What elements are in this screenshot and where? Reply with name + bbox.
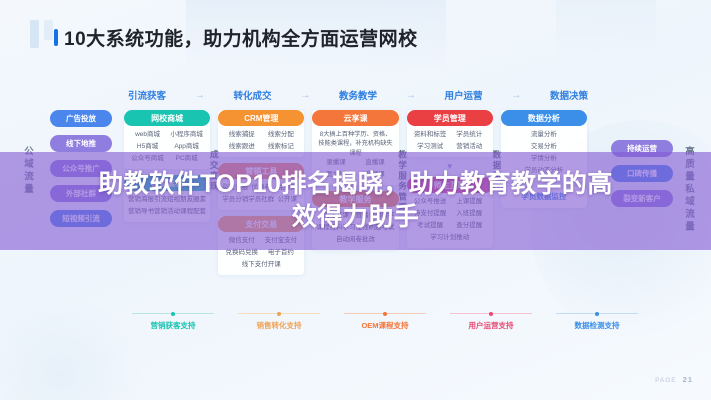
card-cell: 资料和标签 <box>411 130 450 140</box>
footer-item: 用户运营支持 <box>438 313 544 331</box>
card-cell: 流量分析 <box>505 130 583 140</box>
footer-divider <box>556 313 639 314</box>
card-body: 线索捕捉 线索分配 线索跟进 线索标记 <box>218 130 304 152</box>
support-footer: 营销获客支持 销售转化支持 OEM课程支持 用户运营支持 数据检测支持 <box>120 313 650 331</box>
page-number: PAGE21 <box>655 375 693 384</box>
flow-step-4: 用户运营 <box>445 88 483 102</box>
process-flow: 引流获客 → 转化成交 → 教务教学 → 用户运营 → 数据决策 <box>128 86 588 104</box>
flow-step-3: 教务教学 <box>339 88 377 102</box>
flow-arrow-icon: → <box>166 90 233 101</box>
footer-item: OEM课程支持 <box>332 313 438 331</box>
card-cell: 营销活动 <box>450 142 489 152</box>
rail-chip[interactable]: 线下地推 <box>50 135 112 152</box>
flow-arrow-icon: → <box>483 90 550 101</box>
footer-label: 用户运营支持 <box>438 320 544 331</box>
footer-divider <box>450 313 533 314</box>
card-cell: web商城 <box>128 130 167 140</box>
card-cell: 学员统计 <box>450 130 489 140</box>
footer-label: 销售转化支持 <box>226 320 332 331</box>
footer-item: 营销获客支持 <box>120 313 226 331</box>
flow-step-1: 引流获客 <box>128 88 166 102</box>
rail-chip[interactable]: 广告投放 <box>50 110 112 127</box>
footer-item: 数据检测支持 <box>544 313 650 331</box>
page-number-value: 21 <box>683 375 693 384</box>
title-bullet-icon <box>54 29 58 46</box>
card-cell: 学习测试 <box>411 142 450 152</box>
flow-arrow-icon: → <box>377 90 444 101</box>
footer-label: OEM课程支持 <box>332 320 438 331</box>
card-title: CRM管理 <box>218 110 304 126</box>
card-cell: H5商城 <box>128 142 167 152</box>
card-cell: 小程序商城 <box>167 130 206 140</box>
footer-label: 营销获客支持 <box>120 320 226 331</box>
card-title: 网校商城 <box>124 110 210 126</box>
card-body: 资料和标签 学员统计 学习测试 营销活动 <box>407 130 493 152</box>
footer-divider <box>344 313 427 314</box>
footer-label: 数据检测支持 <box>544 320 650 331</box>
background-band-secondary <box>556 0 656 60</box>
card-cell: 线索分配 <box>261 130 300 140</box>
page-title-text: 10大系统功能，助力机构全方面运营网校 <box>64 24 418 51</box>
page-number-label: PAGE <box>655 377 677 384</box>
overlay-line-1: 助教软件TOP10排名揭晓，助力教育教学的高 <box>98 170 613 198</box>
flow-step-2: 转化成交 <box>234 88 272 102</box>
overlay-headline: 助教软件TOP10排名揭晓，助力教育教学的高 效得力助手 <box>36 168 676 234</box>
flow-step-5: 数据决策 <box>550 88 588 102</box>
footer-divider <box>238 313 321 314</box>
card-cell: 交易分析 <box>505 142 583 152</box>
card-title: 学员管理 <box>407 110 493 126</box>
card-title: 云享课 <box>312 110 398 126</box>
card-cell: 线索跟进 <box>222 142 261 152</box>
footer-divider <box>132 313 215 314</box>
card-title: 数据分析 <box>501 110 587 126</box>
card-cell: App商城 <box>167 142 206 152</box>
overlay-banner: 助教软件TOP10排名揭晓，助力教育教学的高 效得力助手 <box>0 152 711 250</box>
slide-canvas: 10大系统功能，助力机构全方面运营网校 引流获客 → 转化成交 → 教务教学 →… <box>0 0 711 400</box>
flow-arrow-icon: → <box>272 90 339 101</box>
card-cell: 线索标记 <box>261 142 300 152</box>
card-crm[interactable]: CRM管理 线索捕捉 线索分配 线索跟进 线索标记 <box>218 110 304 157</box>
footer-item: 销售转化支持 <box>226 313 332 331</box>
card-cell: 线下支付开课 <box>222 260 300 270</box>
page-title: 10大系统功能，助力机构全方面运营网校 <box>54 24 418 51</box>
card-student-management[interactable]: 学员管理 资料和标签 学员统计 学习测试 营销活动 <box>407 110 493 157</box>
overlay-line-2: 效得力助手 <box>292 203 420 231</box>
card-cell: 线索捕捉 <box>222 130 261 140</box>
